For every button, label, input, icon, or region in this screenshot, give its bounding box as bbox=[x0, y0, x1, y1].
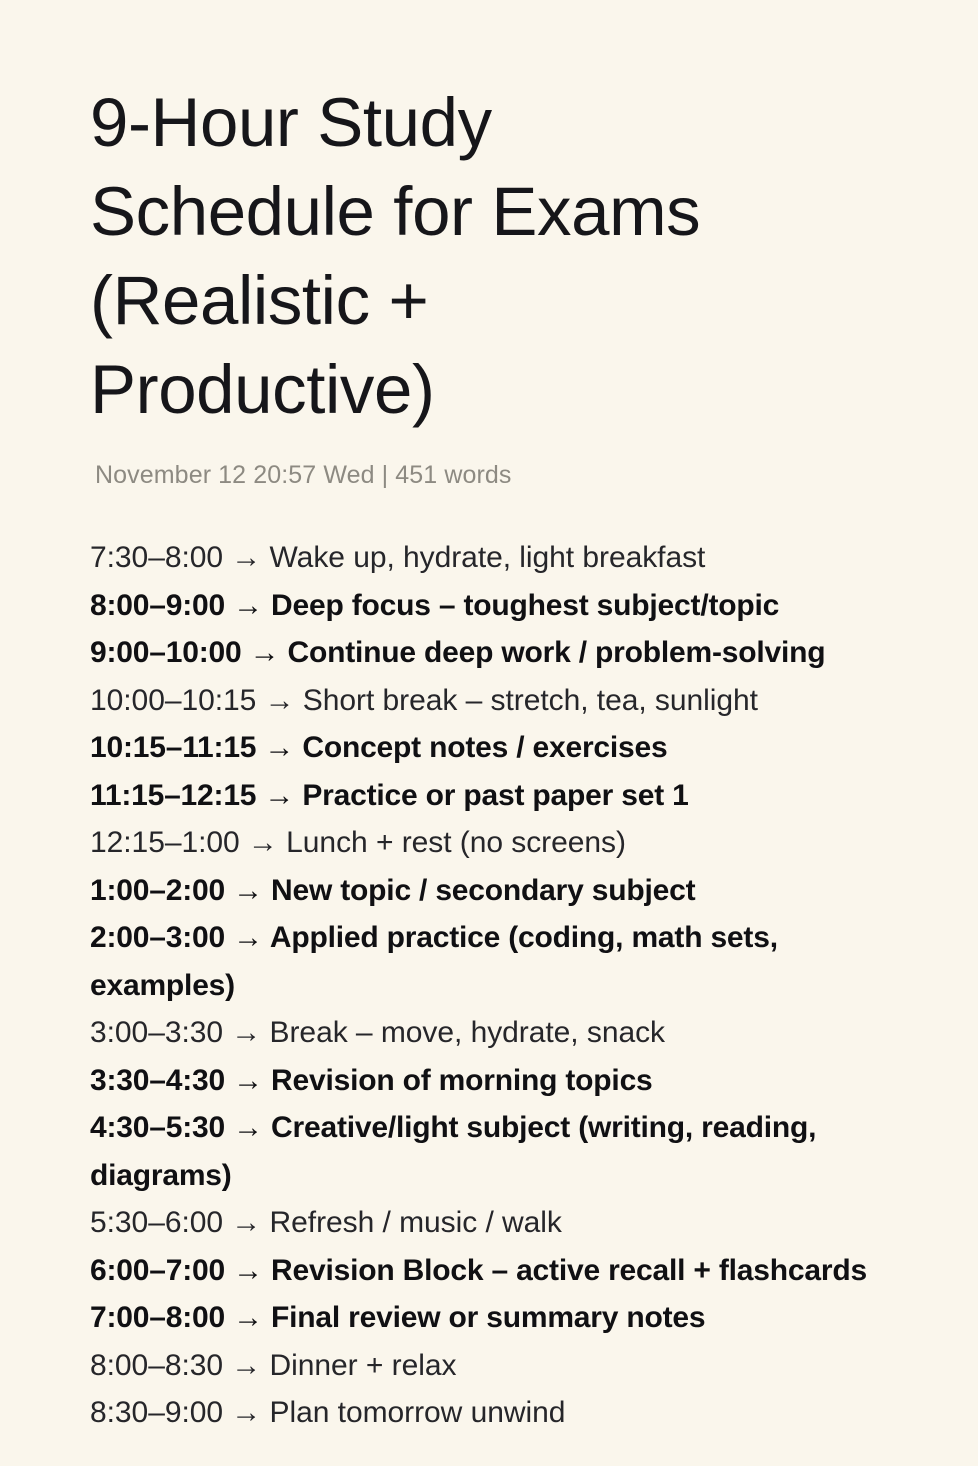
schedule-line: 7:00–8:00 → Final review or summary note… bbox=[90, 1294, 908, 1342]
schedule-line: 9:00–10:00 → Continue deep work / proble… bbox=[90, 629, 908, 677]
schedule-line: 6:00–7:00 → Revision Block – active reca… bbox=[90, 1247, 908, 1295]
schedule-line: 4:30–5:30 → Creative/light subject (writ… bbox=[90, 1104, 908, 1199]
note-page: 9-Hour Study Schedule for Exams (Realist… bbox=[0, 0, 978, 1466]
page-title: 9-Hour Study Schedule for Exams (Realist… bbox=[90, 78, 750, 434]
schedule-line: 3:00–3:30 → Break – move, hydrate, snack bbox=[90, 1009, 908, 1057]
schedule-line: 10:15–11:15 → Concept notes / exercises bbox=[90, 724, 908, 772]
schedule-line: 8:00–9:00 → Deep focus – toughest subjec… bbox=[90, 582, 908, 630]
schedule-line: 3:30–4:30 → Revision of morning topics bbox=[90, 1057, 908, 1105]
schedule-line: 5:30–6:00 → Refresh / music / walk bbox=[90, 1199, 908, 1247]
schedule-line: 12:15–1:00 → Lunch + rest (no screens) bbox=[90, 819, 908, 867]
schedule-line: 2:00–3:00 → Applied practice (coding, ma… bbox=[90, 914, 908, 1009]
schedule-line: 8:00–8:30 → Dinner + relax bbox=[90, 1342, 908, 1390]
schedule-line: 1:00–2:00 → New topic / secondary subjec… bbox=[90, 867, 908, 915]
schedule-line: 8:30–9:00 → Plan tomorrow unwind bbox=[90, 1389, 908, 1437]
document-meta: November 12 20:57 Wed | 451 words bbox=[95, 459, 908, 491]
schedule-line: 7:30–8:00 → Wake up, hydrate, light brea… bbox=[90, 534, 908, 582]
schedule-line: 10:00–10:15 → Short break – stretch, tea… bbox=[90, 677, 908, 725]
schedule-list: 7:30–8:00 → Wake up, hydrate, light brea… bbox=[90, 534, 908, 1437]
schedule-line: 11:15–12:15 → Practice or past paper set… bbox=[90, 772, 908, 820]
